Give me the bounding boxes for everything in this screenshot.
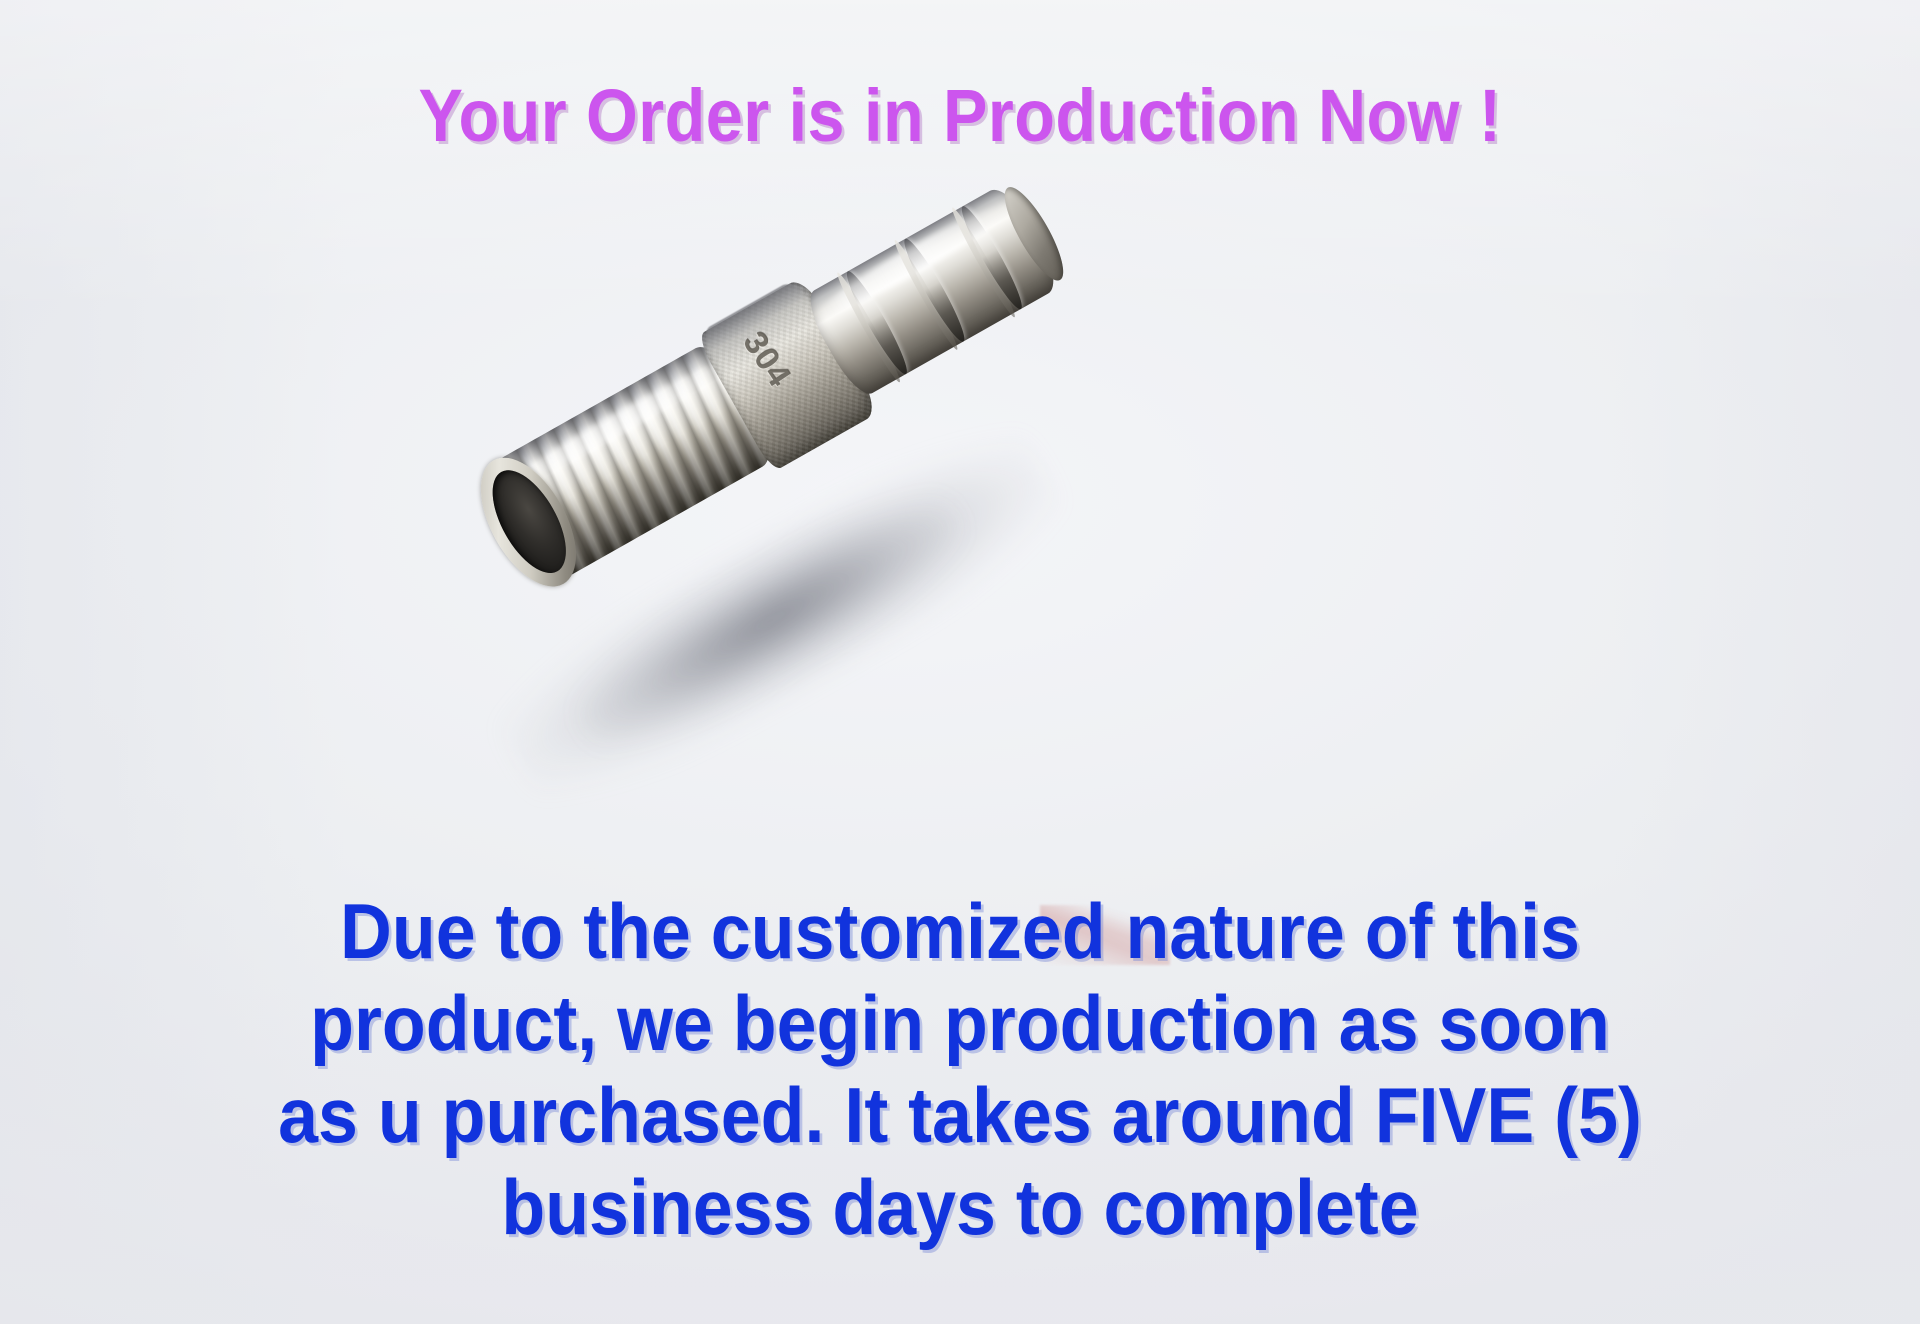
page-title: Your Order is in Production Now ! bbox=[96, 74, 1824, 158]
promo-banner: Your Order is in Production Now ! 304 bbox=[0, 0, 1920, 1324]
notice-line: Due to the customized nature of this bbox=[77, 885, 1843, 977]
production-notice: Due to the customized nature of this pro… bbox=[77, 885, 1843, 1253]
notice-line: product, we begin production as soon bbox=[77, 977, 1843, 1069]
notice-line: business days to complete bbox=[77, 1161, 1843, 1253]
notice-line: as u purchased. It takes around FIVE (5) bbox=[77, 1069, 1843, 1161]
product-photo: 304 bbox=[440, 290, 1160, 730]
